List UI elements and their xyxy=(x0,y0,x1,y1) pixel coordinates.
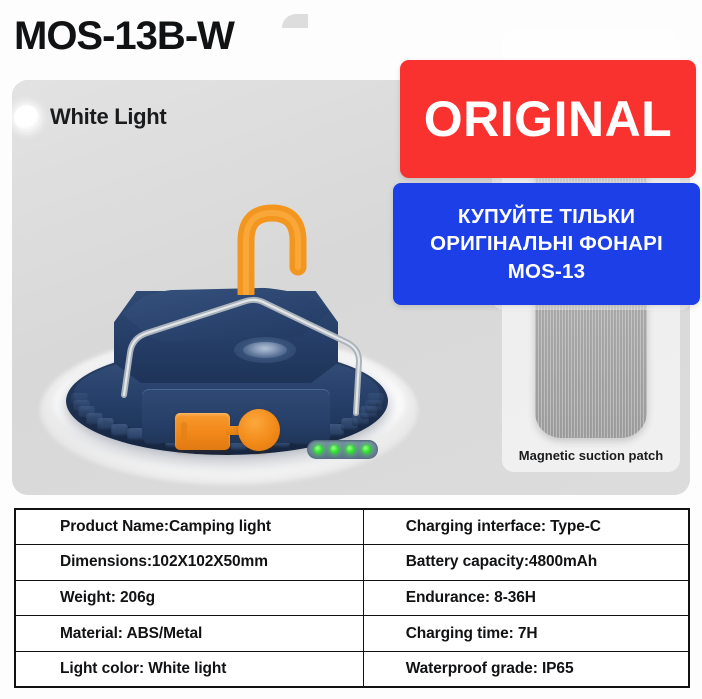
spec-cell-left: Dimensions:102X102X50mm xyxy=(15,545,363,581)
spec-cell-left: Material: ABS/Metal xyxy=(15,616,363,652)
table-row: Product Name:Camping lightCharging inter… xyxy=(15,509,689,545)
magnetic-patch-label: Magnetic suction patch xyxy=(502,448,680,463)
spec-cell-right: Charging interface: Type-C xyxy=(363,509,689,545)
buy-original-line-2: ОРИГІНАЛЬНІ ФОНАРІ xyxy=(430,230,663,257)
white-light-indicator: White Light xyxy=(14,104,166,130)
table-row: Dimensions:102X102X50mmBattery capacity:… xyxy=(15,545,689,581)
lamp-vent-tooth xyxy=(111,424,128,437)
buy-original-badge: КУПУЙТЕ ТІЛЬКИ ОРИГІНАЛЬНІ ФОНАРІ MOS-13 xyxy=(393,183,700,305)
spec-cell-right: Charging time: 7H xyxy=(363,616,689,652)
spec-cell-left: Product Name:Camping light xyxy=(15,509,363,545)
spec-cell-left: Light color: White light xyxy=(15,651,363,687)
camping-lamp-illustration xyxy=(18,95,438,495)
spec-cell-right: Waterproof grade: IP65 xyxy=(363,651,689,687)
table-row: Light color: White lightWaterproof grade… xyxy=(15,651,689,687)
spec-cell-right: Endurance: 8-36H xyxy=(363,580,689,616)
table-row: Weight: 206gEndurance: 8-36H xyxy=(15,580,689,616)
original-badge: ORIGINAL xyxy=(400,60,696,178)
original-badge-text: ORIGINAL xyxy=(424,90,672,148)
battery-led-dot xyxy=(330,445,339,454)
buy-original-line-1: КУПУЙТЕ ТІЛЬКИ xyxy=(458,203,635,230)
table-row: Material: ABS/MetalCharging time: 7H xyxy=(15,616,689,652)
brand-emblem-icon xyxy=(234,337,296,363)
specifications-table: Product Name:Camping lightCharging inter… xyxy=(14,508,690,688)
lamp-vent-tooth xyxy=(367,393,384,406)
spec-cell-right: Battery capacity:4800mAh xyxy=(363,545,689,581)
battery-led-indicator xyxy=(307,440,378,459)
usb-port-cap-icon xyxy=(238,409,280,451)
battery-led-dot xyxy=(362,445,371,454)
usb-port-cover-icon xyxy=(175,413,230,450)
page-title: MOS-13B-W xyxy=(14,16,234,56)
panel-title-notch-corner xyxy=(282,0,308,26)
spec-cell-left: Weight: 206g xyxy=(15,580,363,616)
lamp-top-face xyxy=(122,287,330,345)
product-infographic: MOS-13B-W Magnetic suction patch White L… xyxy=(0,0,702,699)
white-light-dot-icon xyxy=(14,105,39,130)
battery-led-dot xyxy=(314,445,323,454)
orange-hook-icon xyxy=(216,195,312,295)
buy-original-line-3: MOS-13 xyxy=(508,258,586,285)
battery-led-dot xyxy=(346,445,355,454)
white-light-label: White Light xyxy=(50,104,166,130)
